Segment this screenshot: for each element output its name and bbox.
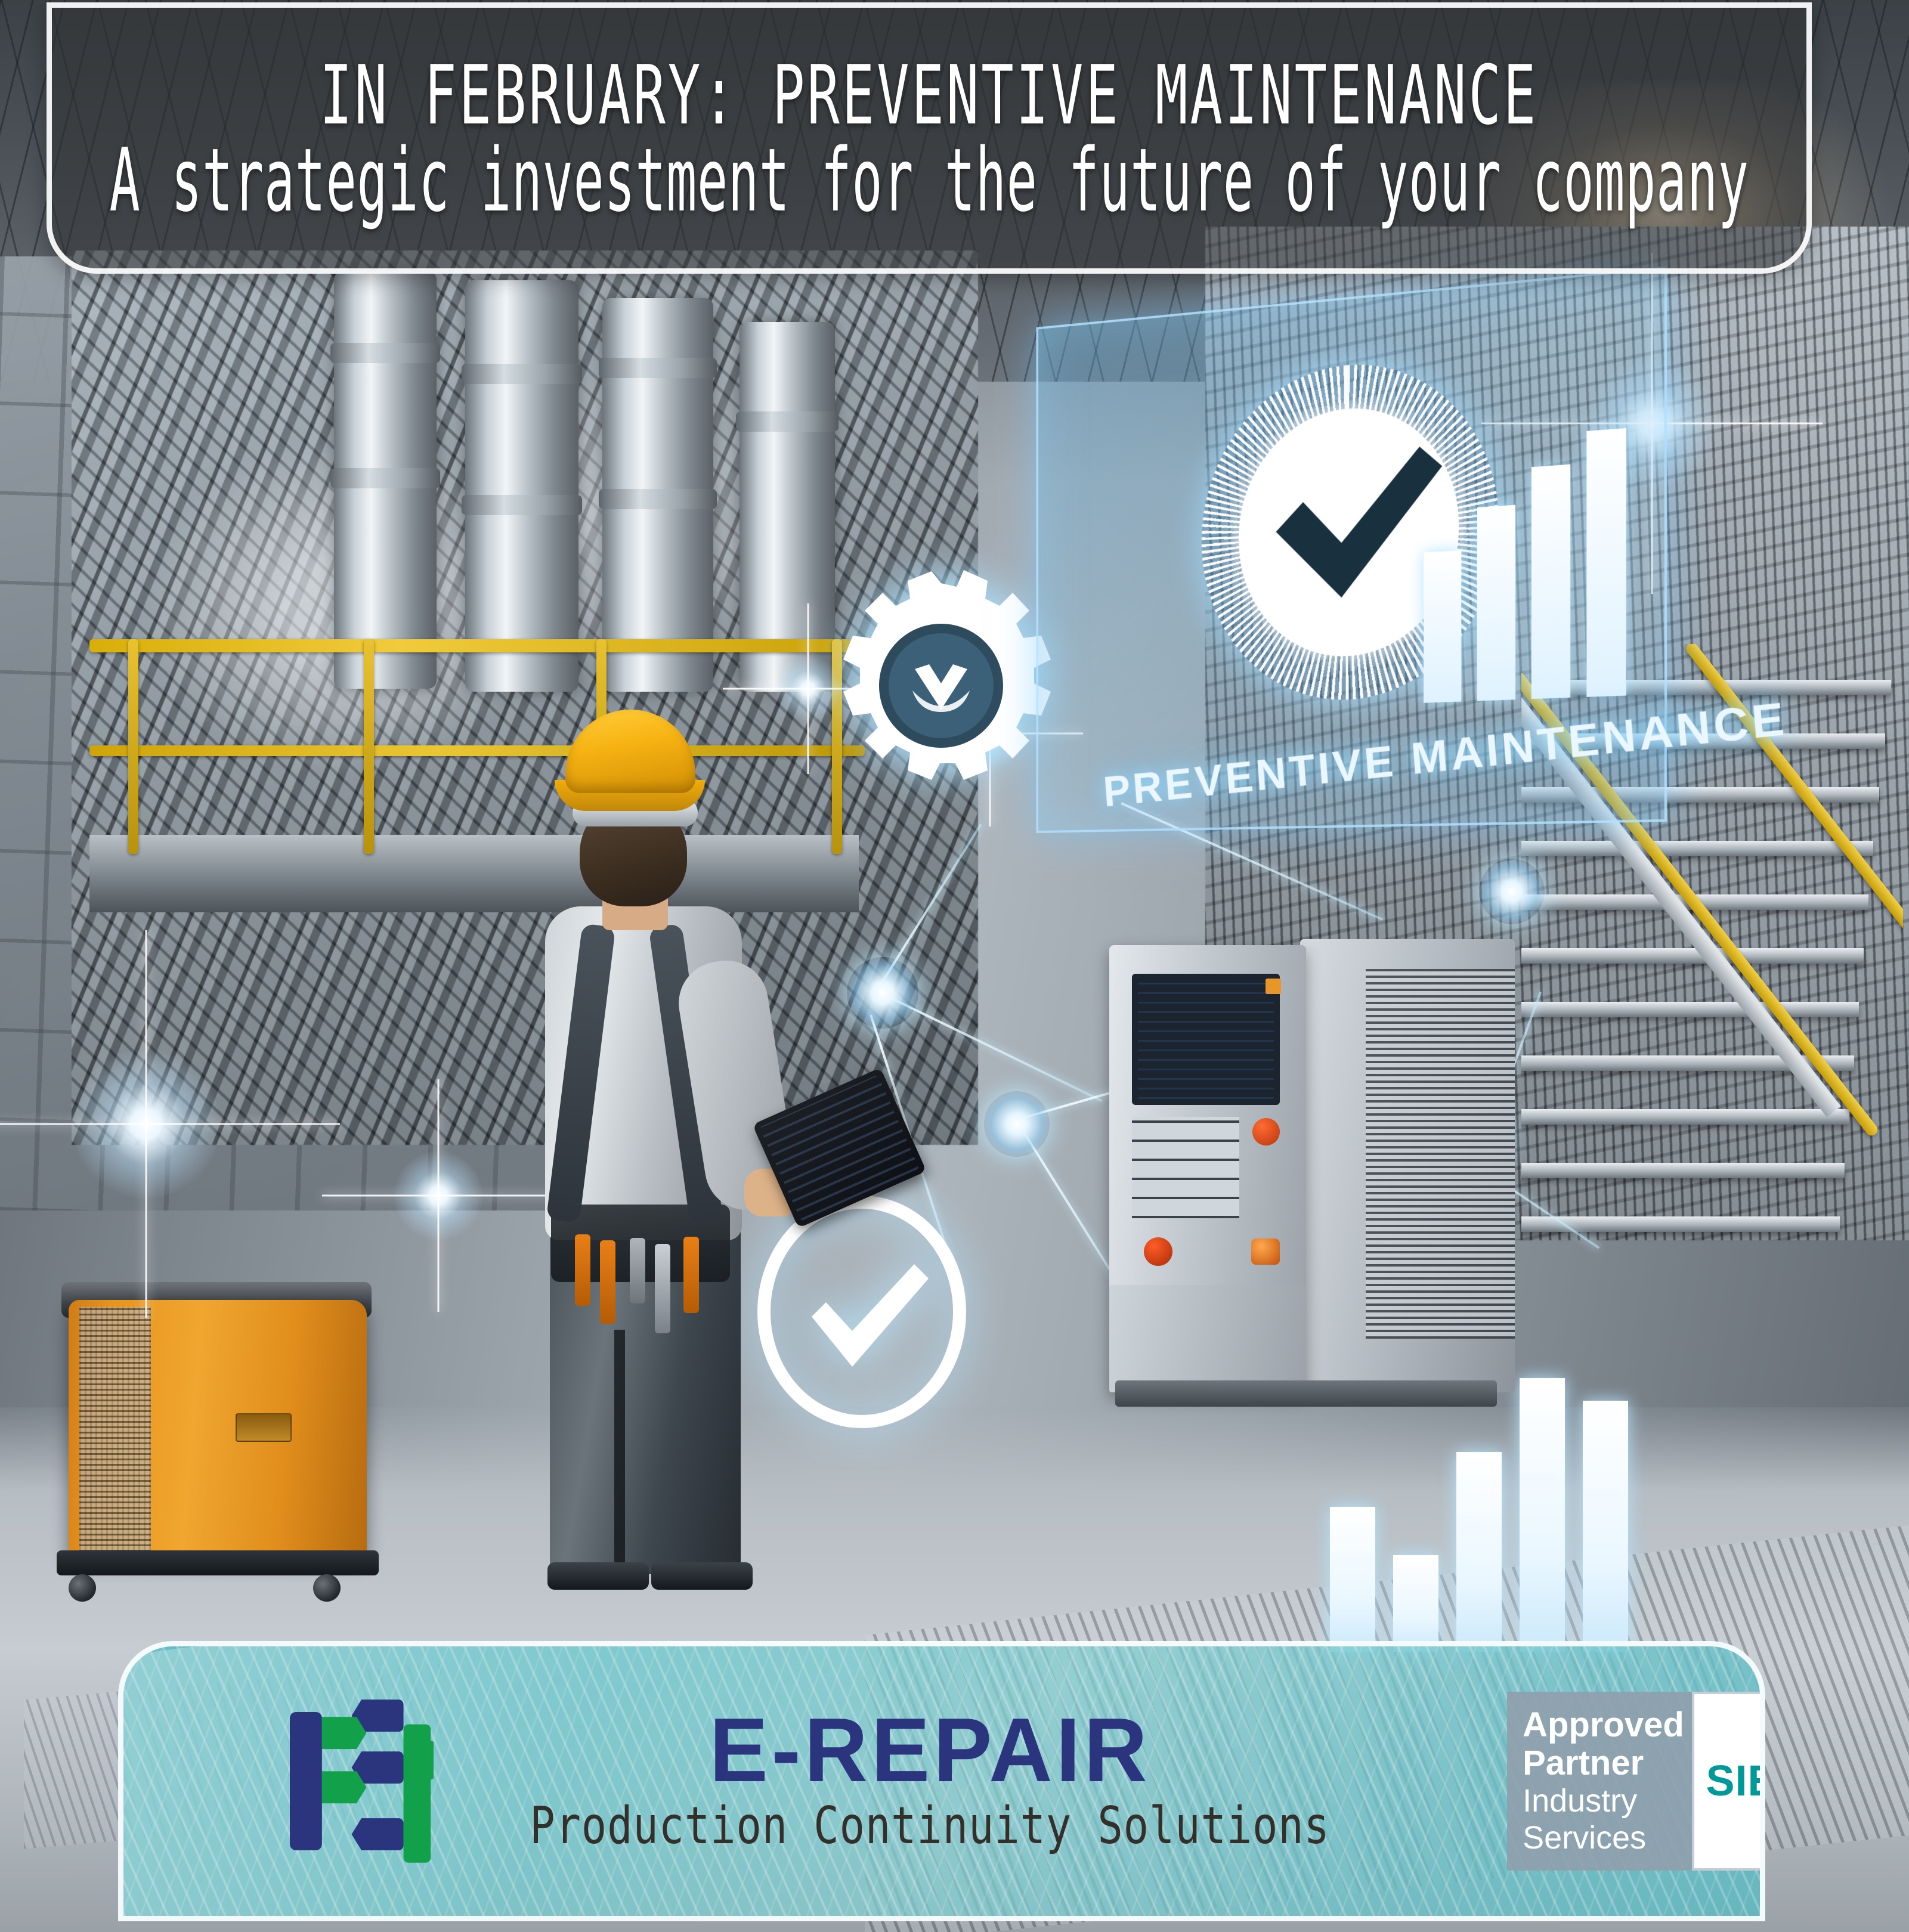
belt-tool (655, 1244, 670, 1333)
emergency-stop-button[interactable] (1252, 1118, 1280, 1145)
network-node (847, 957, 918, 1029)
siemens-logo-box: SIEMENS (1692, 1692, 1765, 1871)
worker-shoe (547, 1562, 649, 1590)
belt-tool (600, 1240, 615, 1324)
approved-line: Approved (1523, 1706, 1676, 1745)
page-subtitle: A strategic investment for the future of… (109, 136, 1749, 223)
cart-wheel (313, 1574, 341, 1602)
cnc-control-cabinet (1103, 927, 1515, 1404)
gear-check-icon (816, 566, 1066, 805)
er-circuit-logo (284, 1695, 434, 1868)
hologram-title: PREVENTIVE MAINTENANCE (1102, 709, 1630, 816)
partner-badge: Approved Partner Industry Services SIEME… (1507, 1692, 1765, 1871)
cart-base (57, 1550, 379, 1575)
cart-wheel (69, 1574, 96, 1602)
cart-vent-mesh (79, 1307, 151, 1552)
selector-knob[interactable] (1251, 1239, 1280, 1265)
footer-branding-bar: E-REPAIR Production Continuity Solutions… (118, 1641, 1765, 1921)
exhaust-stack (465, 280, 578, 692)
approved-partner-label: Approved Partner Industry Services (1507, 1692, 1692, 1871)
belt-tool (630, 1238, 645, 1304)
services-line: Services (1523, 1820, 1676, 1857)
brand-name: E-REPAIR (709, 1708, 1150, 1793)
maintenance-technician (513, 710, 793, 1592)
worker-leg-split (614, 1330, 625, 1574)
exhaust-stack (334, 271, 437, 689)
railing-post (364, 639, 374, 854)
poster-canvas: PREVENTIVE MAINTENANCE IN FEBRUARY: PREV… (0, 0, 1909, 1932)
keypad[interactable] (1132, 1117, 1239, 1218)
worker-shoe (651, 1562, 753, 1590)
holographic-display-panel: PREVENTIVE MAINTENANCE (1036, 266, 1667, 833)
light-flare (72, 1049, 221, 1199)
tool-cart (57, 1264, 373, 1598)
industry-line: Industry (1523, 1783, 1676, 1820)
hmi-display[interactable] (1132, 974, 1280, 1105)
light-flare (394, 1151, 483, 1240)
network-node (1479, 859, 1545, 924)
cart-nameplate (236, 1413, 292, 1442)
holographic-bars (1424, 428, 1626, 703)
network-node (984, 1091, 1050, 1157)
railing-post (128, 639, 138, 854)
header-banner: IN FEBRUARY: PREVENTIVE MAINTENANCE A st… (47, 2, 1812, 274)
badge-checkmark-icon (1252, 429, 1445, 621)
selector-knob[interactable] (1144, 1237, 1172, 1266)
page-title: IN FEBRUARY: PREVENTIVE MAINTENANCE (320, 55, 1538, 137)
brand-lockup[interactable]: E-REPAIR Production Continuity Solutions (284, 1695, 1418, 1868)
siemens-wordmark: SIEMENS (1706, 1757, 1765, 1806)
brand-tagline: Production Continuity Solutions (530, 1798, 1330, 1854)
safety-railing (89, 639, 865, 652)
belt-tool (683, 1237, 699, 1313)
exhaust-stack (602, 298, 713, 692)
status-led (1266, 979, 1281, 994)
safety-helmet (565, 710, 695, 793)
belt-tool (575, 1234, 590, 1306)
partner-line: Partner (1523, 1744, 1676, 1783)
